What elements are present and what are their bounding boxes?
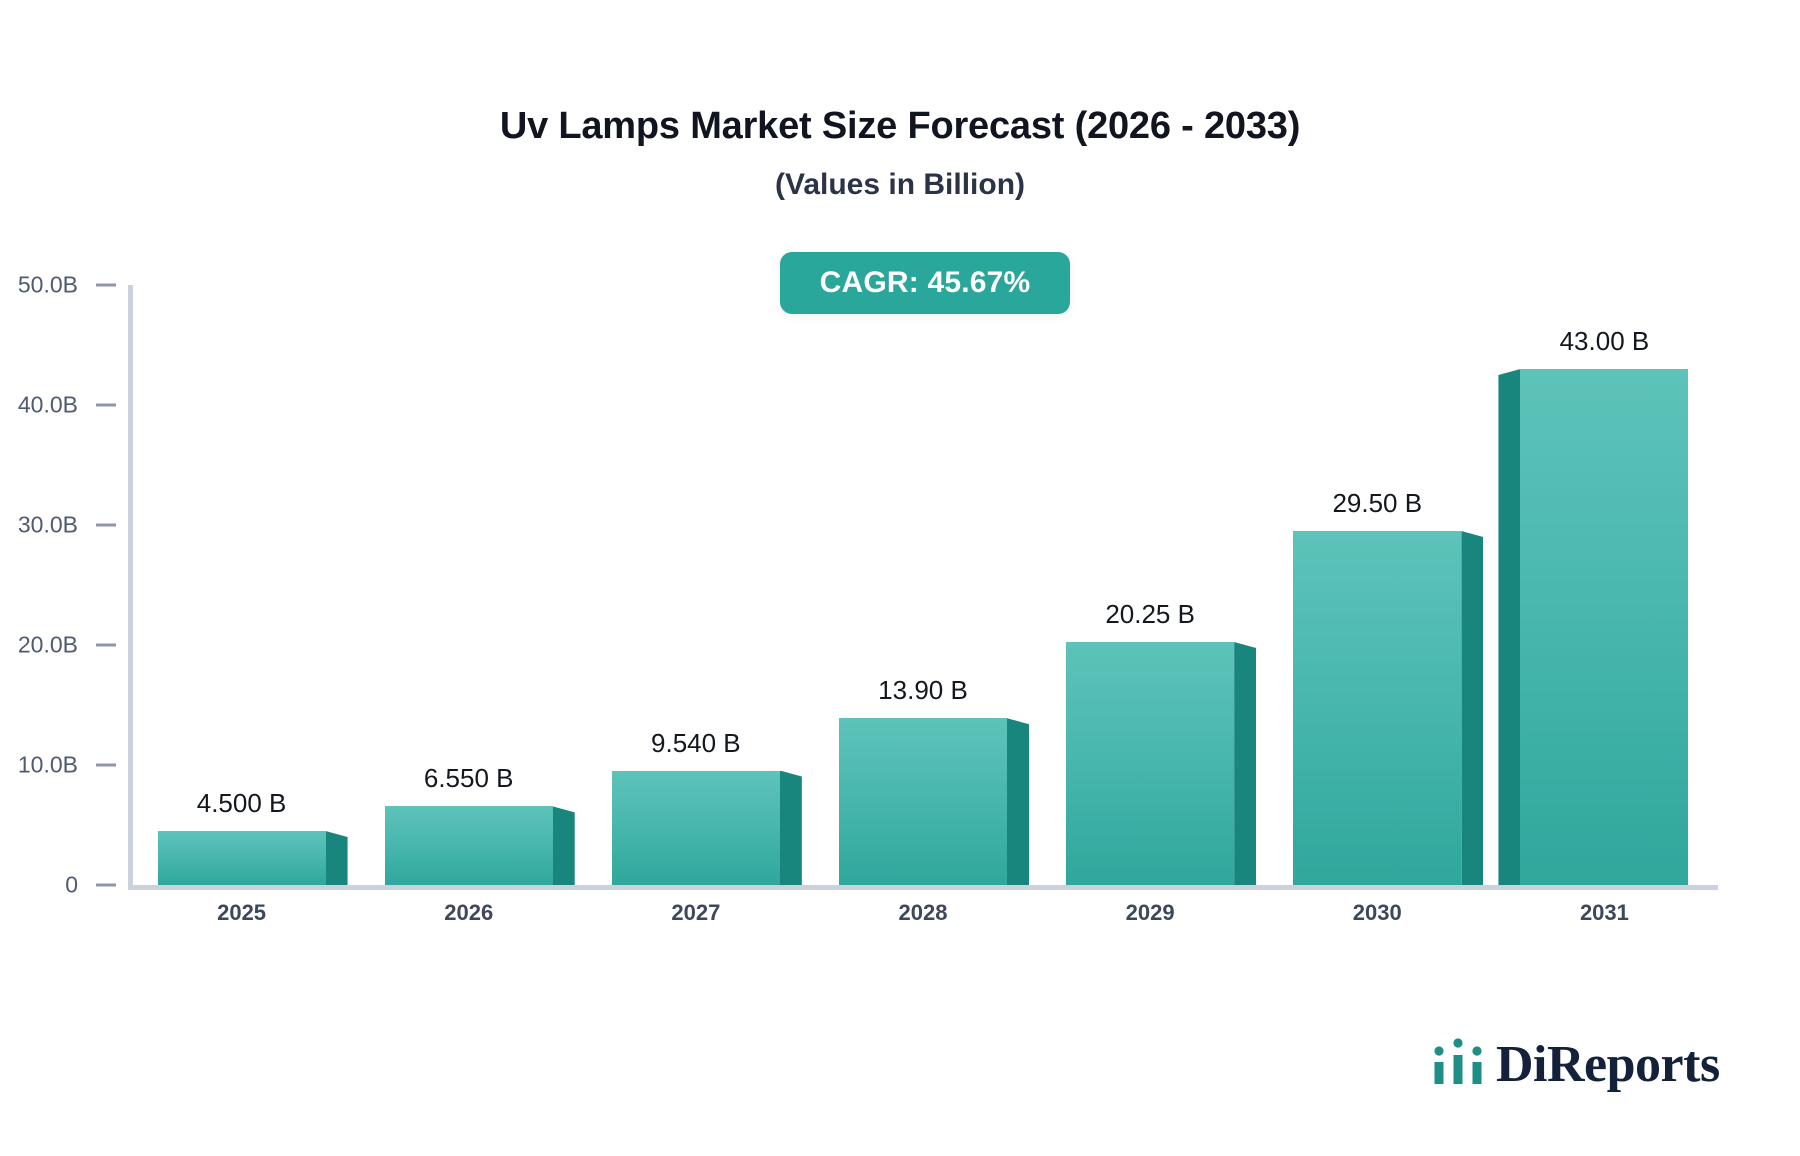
bar-chart-icon bbox=[1432, 1038, 1486, 1091]
x-axis-line bbox=[128, 885, 1718, 890]
bar-front-face bbox=[1520, 369, 1688, 885]
bar[interactable]: 6.550 B bbox=[385, 806, 553, 885]
x-axis-label: 2029 bbox=[1037, 900, 1264, 926]
x-axis-label: 2031 bbox=[1491, 900, 1718, 926]
bar-side-face bbox=[1461, 531, 1483, 885]
bar[interactable]: 20.25 B bbox=[1066, 642, 1234, 885]
y-axis-tick-label: 0 bbox=[65, 872, 78, 899]
y-axis-tick: 20.0B bbox=[18, 632, 128, 659]
bar-value-label: 4.500 B bbox=[158, 788, 326, 819]
y-axis-tick-label: 50.0B bbox=[18, 272, 78, 299]
bar-side-face bbox=[553, 806, 575, 885]
y-axis-tick-label: 10.0B bbox=[18, 752, 78, 779]
chart-page: Uv Lamps Market Size Forecast (2026 - 20… bbox=[0, 0, 1800, 1156]
bar-front-face bbox=[839, 718, 1007, 885]
y-axis-tick-mark bbox=[96, 524, 116, 527]
logo-text: DiReports bbox=[1496, 1039, 1720, 1091]
bar-value-label: 29.50 B bbox=[1293, 488, 1461, 519]
bar-front-face bbox=[612, 771, 780, 885]
y-axis-tick: 10.0B bbox=[18, 752, 128, 779]
y-axis-tick-mark bbox=[96, 764, 116, 767]
bar-value-label: 20.25 B bbox=[1066, 599, 1234, 630]
bar-side-face bbox=[326, 831, 348, 885]
bar-side-face bbox=[1234, 642, 1256, 885]
y-axis-tick-mark bbox=[96, 644, 116, 647]
bar-front-face bbox=[158, 831, 326, 885]
bar-value-label: 43.00 B bbox=[1520, 326, 1688, 357]
bar-side-face bbox=[780, 771, 802, 885]
bar[interactable]: 9.540 B bbox=[612, 771, 780, 885]
bar-value-label: 13.90 B bbox=[839, 675, 1007, 706]
bar-side-face bbox=[1498, 369, 1520, 885]
y-axis-tick-mark bbox=[96, 404, 116, 407]
y-axis-tick: 50.0B bbox=[18, 272, 128, 299]
y-axis-line bbox=[128, 285, 133, 890]
x-axis-label: 2025 bbox=[128, 900, 355, 926]
x-axis-label: 2030 bbox=[1264, 900, 1491, 926]
y-axis-tick-label: 20.0B bbox=[18, 632, 78, 659]
y-axis-tick: 0 bbox=[65, 872, 128, 899]
y-axis-tick-mark bbox=[96, 284, 116, 287]
x-axis-label: 2026 bbox=[355, 900, 582, 926]
bar[interactable]: 13.90 B bbox=[839, 718, 1007, 885]
page-subtitle: (Values in Billion) bbox=[0, 168, 1800, 202]
bar-value-label: 9.540 B bbox=[612, 728, 780, 759]
y-axis-tick-label: 30.0B bbox=[18, 512, 78, 539]
y-axis-tick: 30.0B bbox=[18, 512, 128, 539]
bar[interactable]: 43.00 B bbox=[1520, 369, 1688, 885]
y-axis-tick-mark bbox=[96, 884, 116, 887]
bar-front-face bbox=[385, 806, 553, 885]
y-axis-tick: 40.0B bbox=[18, 392, 128, 419]
bar-front-face bbox=[1066, 642, 1234, 885]
x-axis-label: 2027 bbox=[582, 900, 809, 926]
page-title: Uv Lamps Market Size Forecast (2026 - 20… bbox=[0, 105, 1800, 148]
bar-side-face bbox=[1007, 718, 1029, 885]
x-axis-label: 2028 bbox=[809, 900, 1036, 926]
bar-front-face bbox=[1293, 531, 1461, 885]
y-axis-tick-label: 40.0B bbox=[18, 392, 78, 419]
direports-logo: DiReports bbox=[1432, 1038, 1720, 1091]
bar[interactable]: 29.50 B bbox=[1293, 531, 1461, 885]
bar[interactable]: 4.500 B bbox=[158, 831, 326, 885]
plot-area: 010.0B20.0B30.0B40.0B50.0B 4.500 B6.550 … bbox=[128, 285, 1718, 890]
bar-value-label: 6.550 B bbox=[385, 763, 553, 794]
